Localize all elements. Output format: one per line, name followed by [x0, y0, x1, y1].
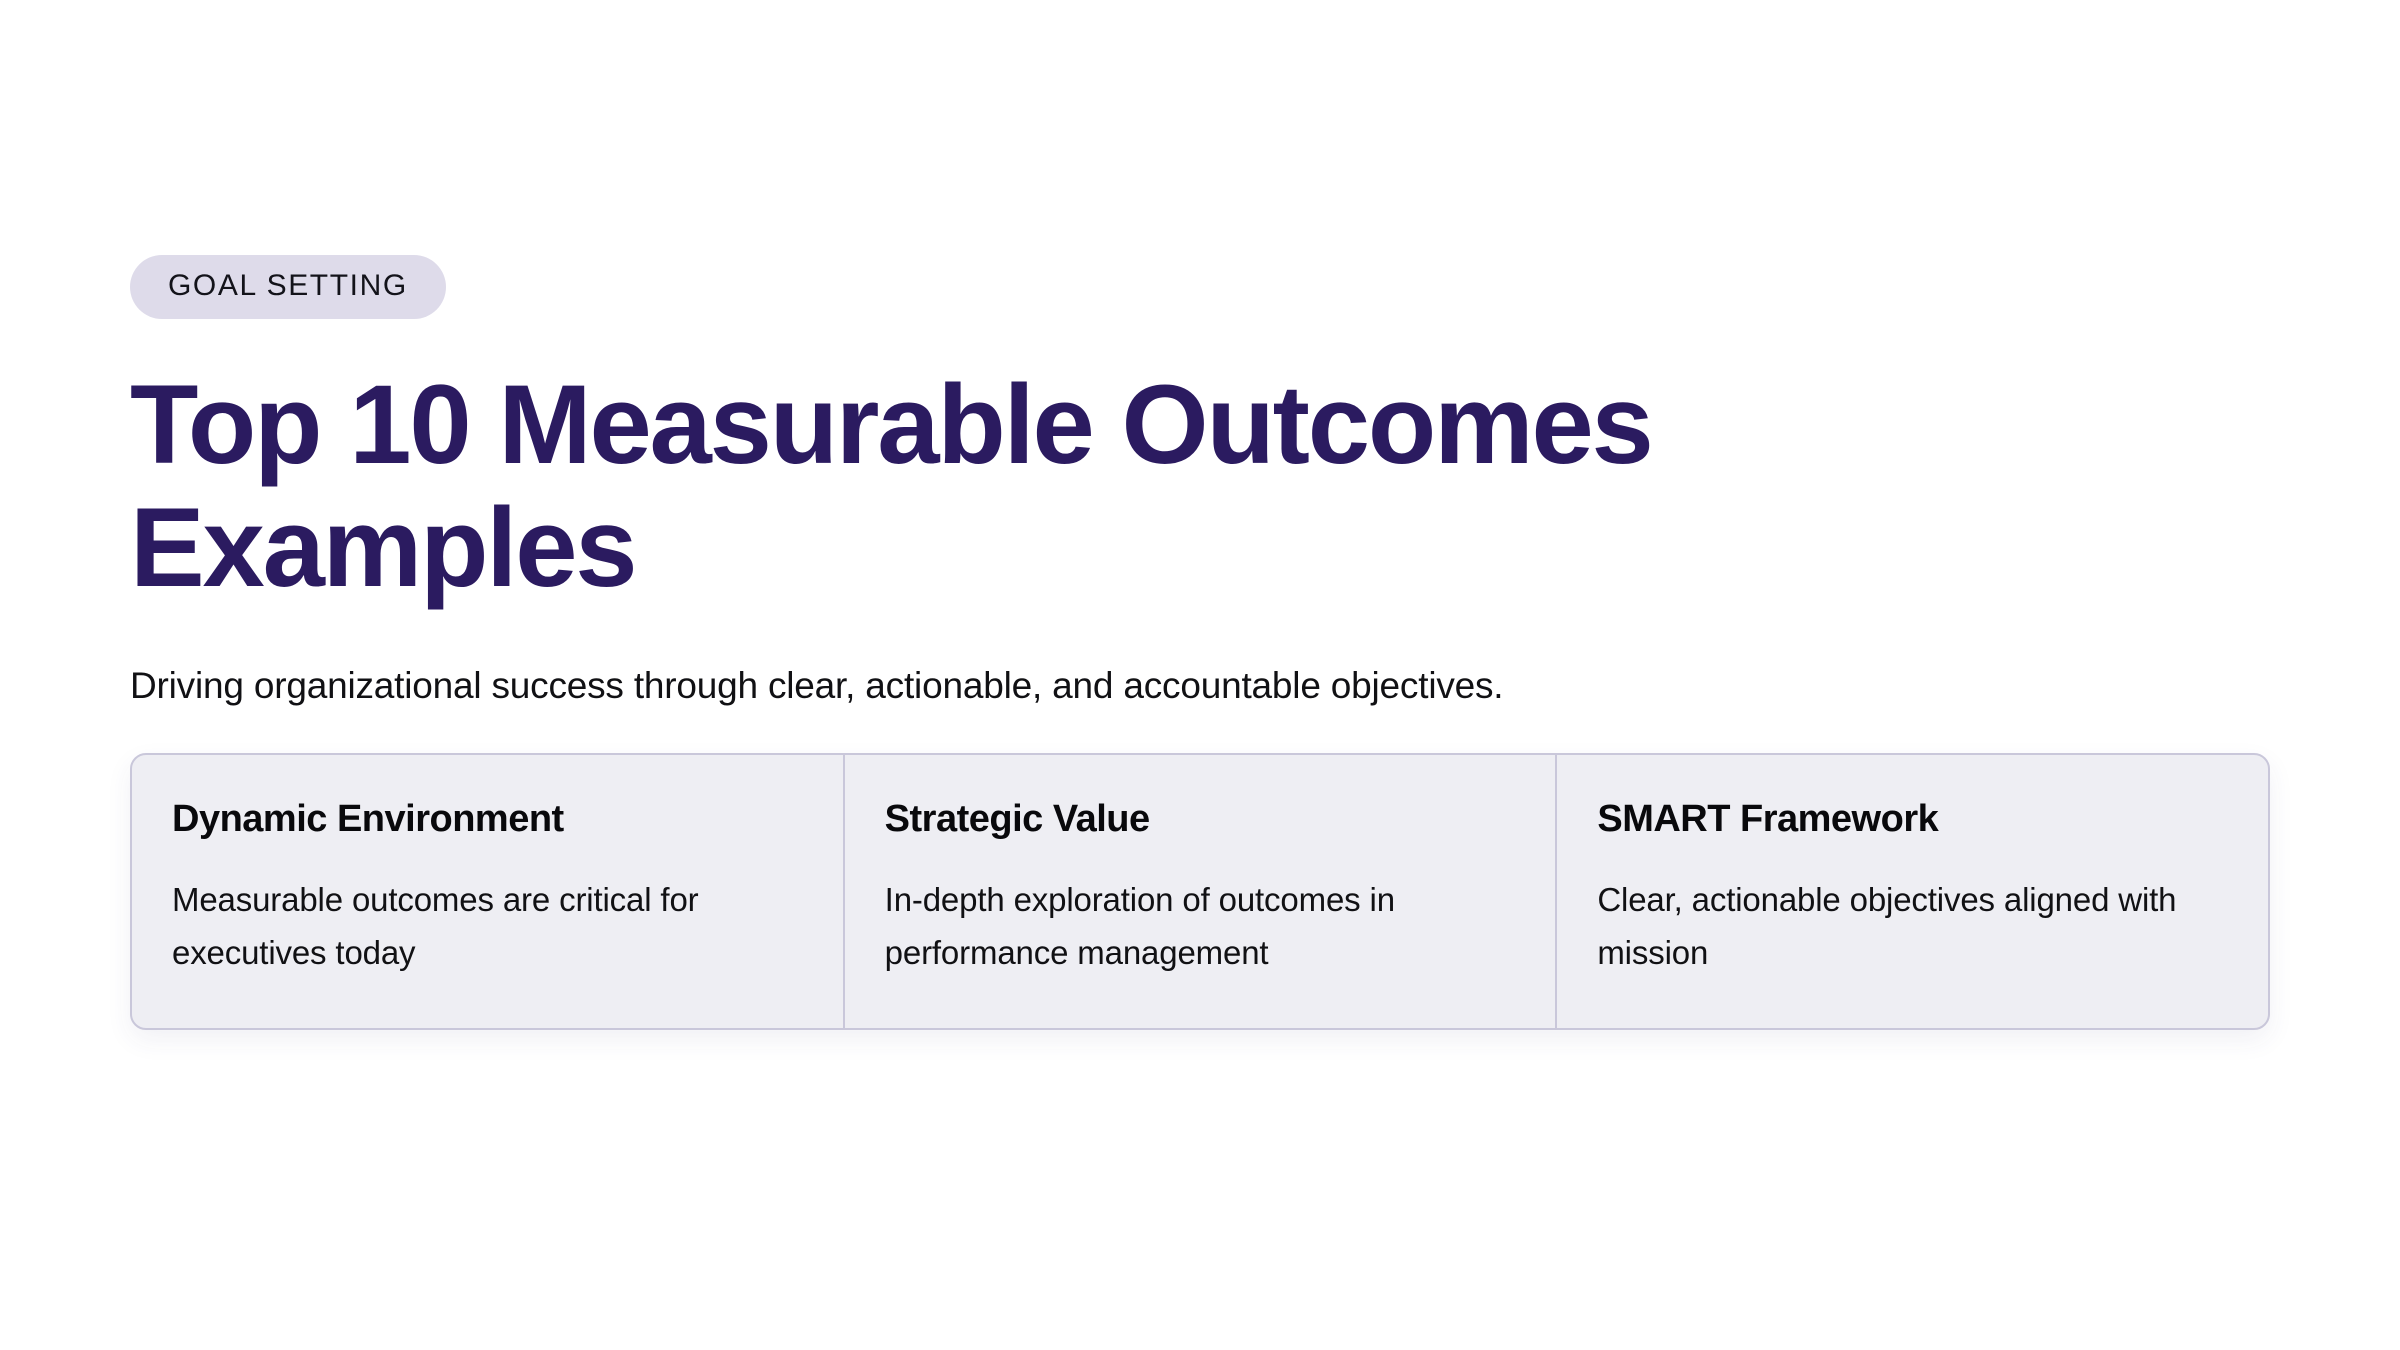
slide-content: GOAL SETTING Top 10 Measurable Outcomes … [130, 255, 2270, 1030]
highlight-card: Dynamic Environment Measurable outcomes … [132, 755, 843, 1028]
card-body: In-depth exploration of outcomes in perf… [885, 873, 1516, 980]
card-title: Strategic Value [885, 797, 1516, 843]
highlight-cards-strip: Dynamic Environment Measurable outcomes … [130, 753, 2270, 1030]
eyebrow-badge: GOAL SETTING [130, 255, 446, 319]
highlight-card: SMART Framework Clear, actionable object… [1555, 755, 2268, 1028]
card-title: Dynamic Environment [172, 797, 803, 843]
highlight-card: Strategic Value In-depth exploration of … [843, 755, 1556, 1028]
page-title: Top 10 Measurable Outcomes Examples [130, 363, 1980, 609]
card-body: Clear, actionable objectives aligned wit… [1597, 873, 2228, 980]
page-subtitle: Driving organizational success through c… [130, 661, 2270, 711]
card-body: Measurable outcomes are critical for exe… [172, 873, 803, 980]
slide-root: GOAL SETTING Top 10 Measurable Outcomes … [0, 0, 2400, 1350]
card-title: SMART Framework [1597, 797, 2228, 843]
